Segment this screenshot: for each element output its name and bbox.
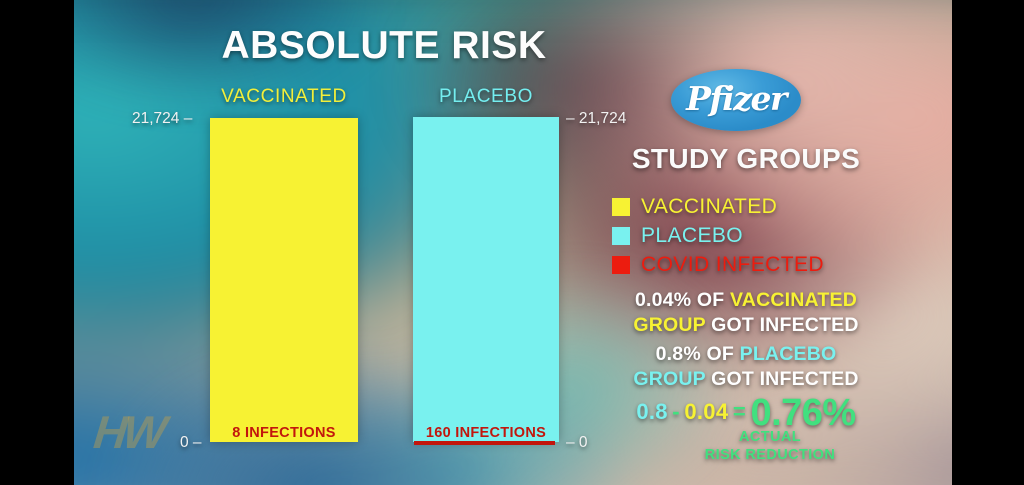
bar-value-vaccinated: 8 INFECTIONS <box>210 425 358 441</box>
legend-label-covid-infected: COVID INFECTED <box>641 253 824 277</box>
equation-minus-sign: - <box>672 399 680 424</box>
stat-placebo-of: OF <box>701 343 740 365</box>
equation-left-value: 0.8 <box>636 399 667 424</box>
stat-placebo-group-word: GROUP <box>633 368 705 390</box>
pfizer-logo: Pfizer <box>671 69 801 131</box>
stat-vaccinated-tail: GOT INFECTED <box>705 314 858 336</box>
infected-marker-placebo <box>414 441 555 445</box>
stat-placebo-line1: 0.8% OF PLACEBO <box>594 342 898 367</box>
stat-vaccinated-group-name: VACCINATED <box>730 289 857 311</box>
risk-reduction-caption-line1: ACTUAL <box>640 428 900 446</box>
letterbox-left <box>0 0 74 485</box>
axis-label-right-top: – 21,724 <box>566 110 626 128</box>
bar-header-placebo: PLACEBO <box>413 86 559 108</box>
legend-item-covid-infected: COVID INFECTED <box>612 250 824 279</box>
bar-value-placebo: 160 INFECTIONS <box>413 425 559 441</box>
letterbox-right <box>952 0 1024 485</box>
stat-placebo-group-name: PLACEBO <box>740 343 837 365</box>
channel-watermark: HW <box>91 405 165 459</box>
legend-label-placebo: PLACEBO <box>641 224 743 248</box>
stat-placebo-tail: GOT INFECTED <box>705 368 858 390</box>
legend-swatch-icon-placebo <box>612 227 630 245</box>
stat-vaccinated: 0.04% OF VACCINATED GROUP GOT INFECTED <box>594 288 898 338</box>
stat-vaccinated-line2: GROUP GOT INFECTED <box>594 313 898 338</box>
bar-vaccinated <box>210 118 358 442</box>
legend-label-vaccinated: VACCINATED <box>641 195 777 219</box>
equation-right-value: 0.04 <box>684 399 728 424</box>
risk-reduction-caption: ACTUAL RISK REDUCTION <box>640 428 900 464</box>
risk-reduction-caption-line2: RISK REDUCTION <box>640 446 900 464</box>
equation-equals-sign: = <box>733 399 746 424</box>
stat-placebo-line2: GROUP GOT INFECTED <box>594 367 898 392</box>
bar-placebo <box>413 117 559 442</box>
stat-vaccinated-of: OF <box>691 289 730 311</box>
chart-title: ABSOLUTE RISK <box>74 24 694 68</box>
stat-vaccinated-percent: 0.04% <box>635 289 691 311</box>
legend-swatch-icon-vaccinated <box>612 198 630 216</box>
stat-vaccinated-line1: 0.04% OF VACCINATED <box>594 288 898 313</box>
legend-item-placebo: PLACEBO <box>612 221 824 250</box>
axis-label-left-top: 21,724 – <box>132 110 192 128</box>
legend-swatch-icon-covid-infected <box>612 256 630 274</box>
screenshot-stage: HW ABSOLUTE RISK VACCINATED PLACEBO 21,7… <box>0 0 1024 485</box>
stat-placebo-percent: 0.8% <box>656 343 701 365</box>
stat-vaccinated-group-word: GROUP <box>633 314 705 336</box>
legend: VACCINATED PLACEBO COVID INFECTED <box>612 192 824 279</box>
stat-placebo: 0.8% OF PLACEBO GROUP GOT INFECTED <box>594 342 898 392</box>
legend-item-vaccinated: VACCINATED <box>612 192 824 221</box>
axis-label-left-bottom: 0 – <box>180 434 202 452</box>
axis-label-right-bottom: – 0 <box>566 434 588 452</box>
bar-header-vaccinated: VACCINATED <box>210 86 358 108</box>
pfizer-wordmark: Pfizer <box>671 69 801 131</box>
panel-heading-study-groups: STUDY GROUPS <box>596 143 896 175</box>
